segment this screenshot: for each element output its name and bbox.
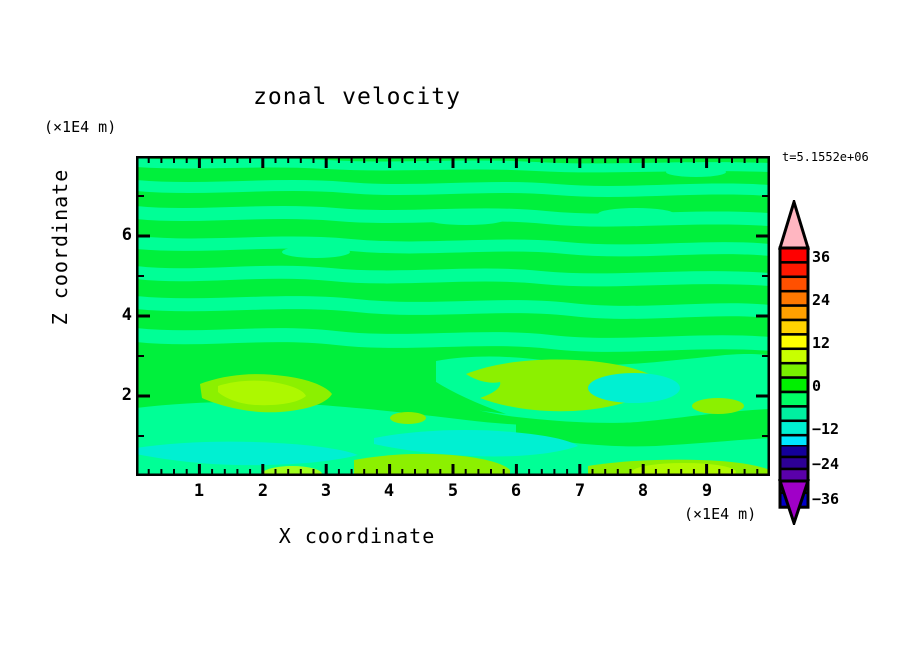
- y-axis-unit-label: (×1E4 m): [44, 118, 116, 136]
- colorbar-label-12: 12: [812, 334, 830, 352]
- colorbar-label-neg12: −12: [812, 420, 839, 438]
- y-axis-title: Z coordinate: [48, 167, 72, 327]
- chart-title: zonal velocity: [0, 84, 904, 110]
- contour-bands: [136, 156, 770, 476]
- x-tick-label-8: 8: [623, 481, 663, 501]
- y-tick-label-2: 2: [92, 385, 132, 405]
- x-axis-title-text: X coordinate: [279, 524, 436, 548]
- x-tick-label-6: 6: [496, 481, 536, 501]
- x-tick-label-5: 5: [433, 481, 473, 501]
- y-tick-label-6: 6: [92, 225, 132, 245]
- x-axis-unit-label: (×1E4 m): [684, 505, 756, 523]
- x-axis-title: X coordinate: [0, 524, 904, 548]
- x-tick-label-2: 2: [243, 481, 283, 501]
- colorbar-label-24: 24: [812, 291, 830, 309]
- y-tick-label-4: 4: [92, 305, 132, 325]
- colorbar-label-0: 0: [812, 377, 821, 395]
- colorbar-label-neg36: −36: [812, 490, 839, 508]
- contour-plot-panel: [136, 156, 770, 476]
- timestamp-annotation: t=5.1552e+06: [782, 150, 869, 164]
- x-tick-label-7: 7: [560, 481, 600, 501]
- x-tick-label-4: 4: [369, 481, 409, 501]
- colorbar-lower-bands: [780, 445, 808, 481]
- chart-title-text: zonal velocity: [253, 84, 461, 110]
- colorbar-label-neg24: −24: [812, 455, 839, 473]
- colorbar-label-36: 36: [812, 248, 830, 266]
- x-tick-label-1: 1: [179, 481, 219, 501]
- colorbar-over-arrow: [780, 202, 808, 248]
- colorbar-under-arrow: [780, 481, 808, 523]
- contour-field: [136, 156, 770, 476]
- x-tick-label-3: 3: [306, 481, 346, 501]
- x-tick-label-9: 9: [687, 481, 727, 501]
